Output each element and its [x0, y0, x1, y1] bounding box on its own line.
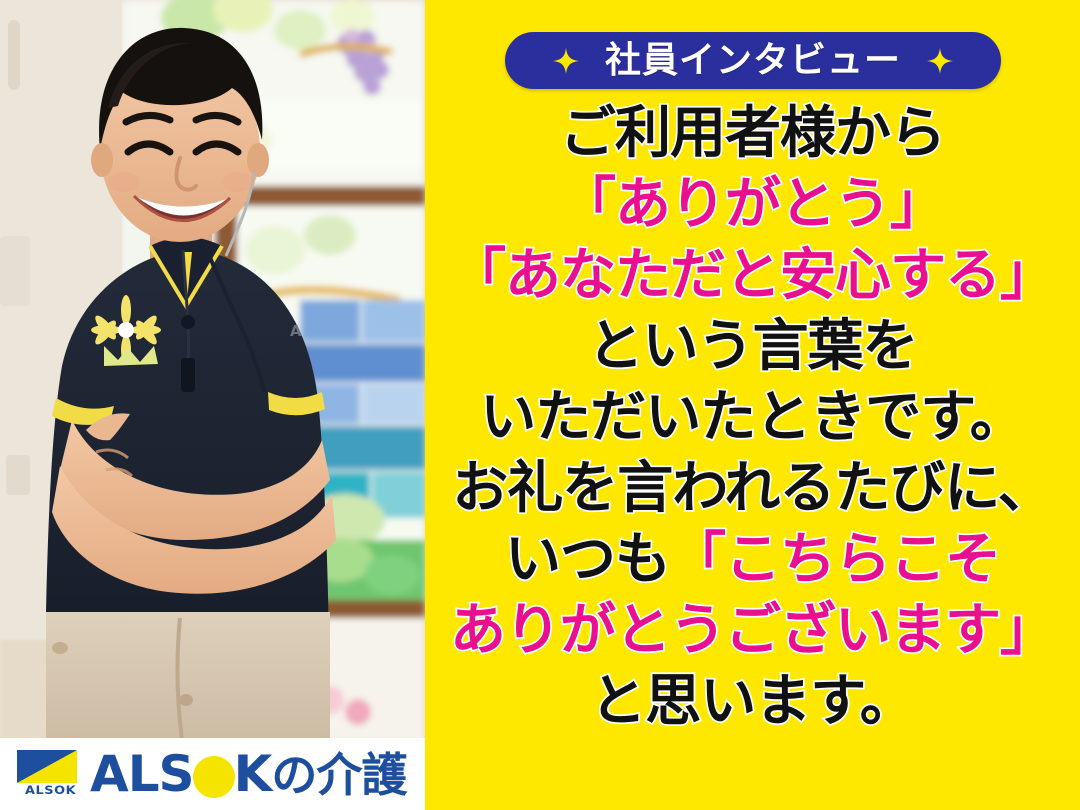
alsok-mark-icon: ALSOK: [14, 750, 80, 798]
quote-line-7-black: いつも: [505, 527, 670, 592]
quote-line-7: いつも「こちらこそ: [425, 524, 1080, 595]
quote-line-2: 「ありがとう」: [425, 169, 1080, 240]
svg-text:A: A: [290, 322, 302, 340]
brand-o-circle-icon: [193, 756, 235, 798]
quote-line-8: ありがとうございます」: [425, 595, 1080, 666]
quote-text-block: ご利用者様から 「ありがとう」 「あなただと安心する」 という言葉を いただいた…: [425, 98, 1080, 737]
sparkle-icon: [553, 48, 579, 74]
quote-line-7-pink: 「こちらこそ: [670, 527, 1000, 592]
quote-line-1: ご利用者様から: [425, 98, 1080, 169]
interview-badge: 社員インタビュー: [505, 32, 1001, 89]
alsok-mark-wordmark: ALSOK: [17, 783, 84, 798]
alsok-logo-band: ALSOK ALSKの介護: [0, 738, 425, 810]
quote-line-3: 「あなただと安心する」: [425, 240, 1080, 311]
photo-illustration: A: [0, 0, 425, 810]
alsok-diagonal-square-icon: [17, 750, 77, 783]
quote-line-9: と思います。: [425, 666, 1080, 737]
brand-k: K: [234, 745, 272, 803]
interview-badge-label: 社員インタビュー: [605, 43, 901, 79]
alsok-brand-text: ALSKの介護: [90, 749, 406, 799]
quote-panel: 社員インタビュー ご利用者様から 「ありがとう」 「あなただと安心する」 という…: [425, 0, 1080, 810]
poster: A: [0, 0, 1080, 810]
quote-line-4: という言葉を: [425, 311, 1080, 382]
quote-line-6: お礼を言われるたびに、: [425, 453, 1080, 524]
employee-photo: A: [0, 0, 425, 810]
sparkle-icon: [927, 48, 953, 74]
brand-suffix: の介護: [271, 748, 406, 802]
brand-als: ALS: [90, 745, 194, 803]
quote-line-5: いただいたときです。: [425, 382, 1080, 453]
